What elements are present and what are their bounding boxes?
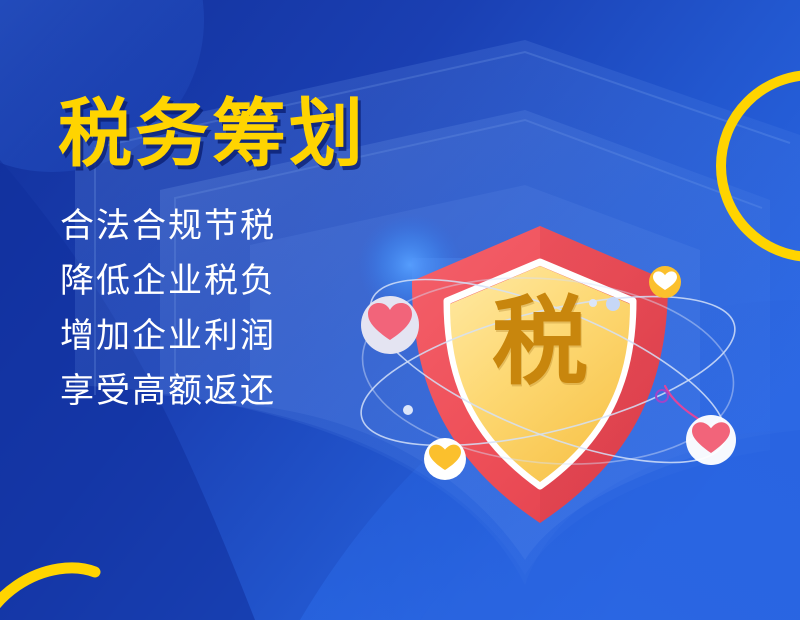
shield-emblem-character: 税 [470, 295, 610, 391]
benefit-item-4: 享受高额返还 [60, 374, 388, 408]
badge-heart-bottom-right [686, 415, 736, 465]
benefit-list: 合法合规节税 降低企业税负 增加企业利润 享受高额返还 [60, 209, 388, 408]
headline-block: 税务筹划 合法合规节税 降低企业税负 增加企业利润 享受高额返还 [58, 96, 388, 408]
benefit-item-1: 合法合规节税 [60, 209, 388, 243]
badge-heart-bottom-left [424, 438, 466, 480]
tax-planning-banner: 税务筹划 合法合规节税 降低企业税负 增加企业利润 享受高额返还 税 [0, 0, 800, 620]
benefit-item-2: 降低企业税负 [60, 264, 388, 298]
orbit-dot-c [403, 405, 413, 415]
badge-heart-top-right [649, 266, 681, 298]
benefit-item-3: 增加企业利润 [60, 319, 388, 353]
page-title: 税务筹划 [58, 96, 388, 171]
